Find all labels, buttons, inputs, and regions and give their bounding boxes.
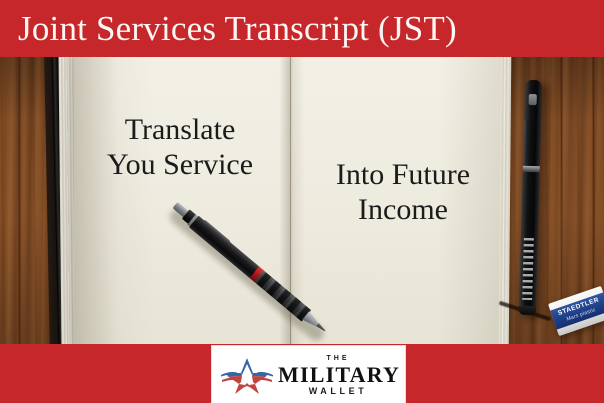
notebook-photo: Translate You Service Into Future Income — [0, 57, 604, 344]
left-page-headline-line-2: You Service — [74, 147, 286, 182]
marker-cap-window — [529, 94, 537, 105]
wood-plank-seam — [18, 57, 21, 344]
marker-printed-label — [522, 238, 534, 300]
poster-graphic: Joint Services Transcript (JST) Translat… — [0, 0, 604, 403]
page-title: Joint Services Transcript (JST) — [18, 7, 588, 51]
left-page-headline: Translate You Service — [74, 112, 286, 182]
brand-logo-wallet: WALLET — [278, 386, 398, 397]
star-logo-icon — [220, 355, 274, 395]
right-page-headline-line-2: Income — [300, 192, 506, 227]
right-page-headline: Into Future Income — [300, 157, 506, 227]
left-page-headline-line-1: Translate — [74, 112, 286, 147]
top-red-banner: Joint Services Transcript (JST) — [0, 0, 604, 57]
right-page-headline-line-1: Into Future — [300, 157, 506, 192]
brand-logo-wordmark: THE MILITARY WALLET — [278, 354, 398, 397]
brand-logo[interactable]: THE MILITARY WALLET — [211, 345, 406, 403]
brand-logo-military: MILITARY — [278, 363, 398, 386]
page-shadow-left — [74, 57, 154, 344]
marker-end-cap — [519, 306, 536, 315]
